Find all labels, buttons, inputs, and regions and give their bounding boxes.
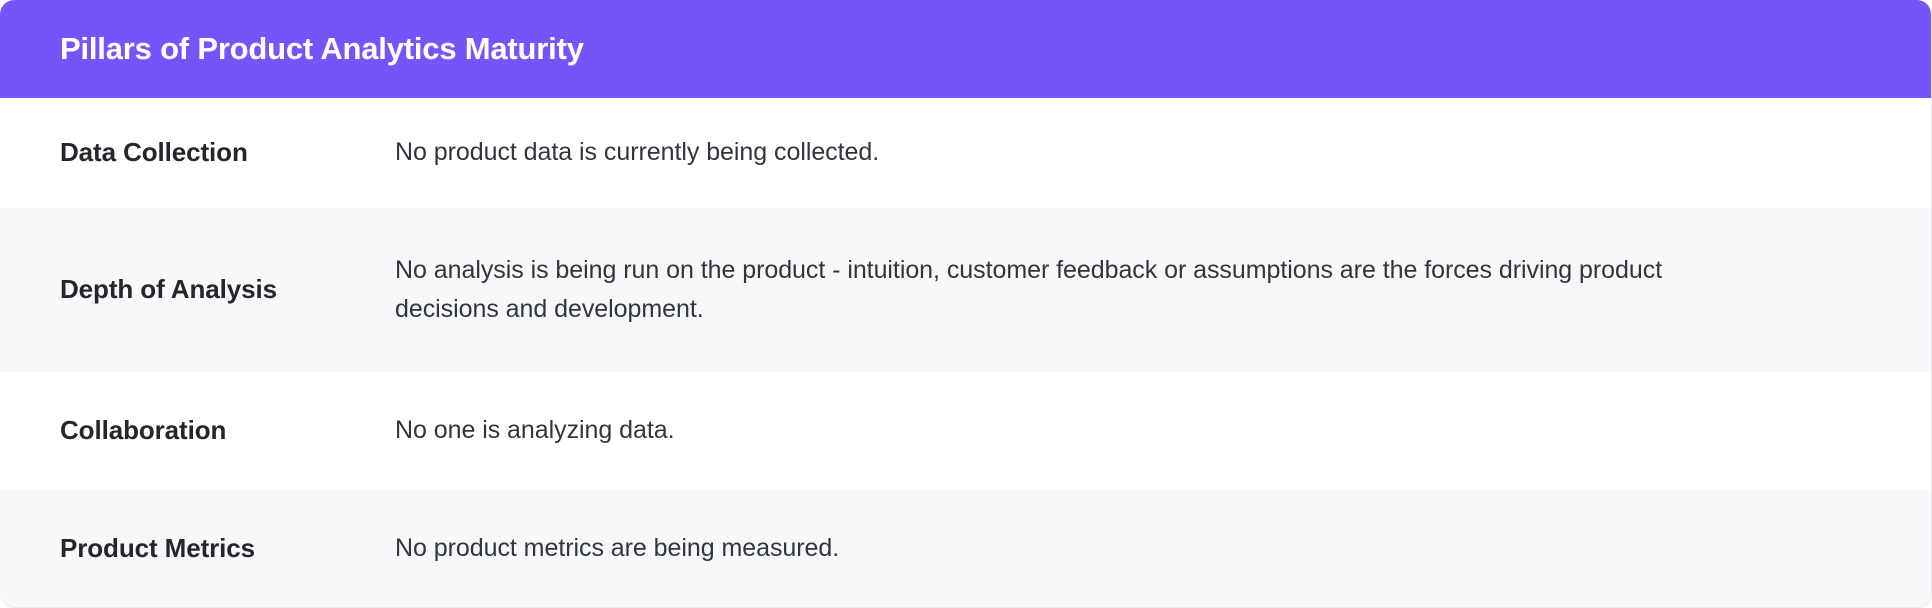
pillar-description: No product data is currently being colle… [395, 133, 1715, 173]
pillar-description: No analysis is being run on the product … [395, 251, 1715, 330]
pillar-description: No product metrics are being measured. [395, 529, 1715, 569]
card-header: Pillars of Product Analytics Maturity [0, 0, 1931, 98]
table-row: Data Collection No product data is curre… [0, 98, 1931, 208]
pillars-card: Pillars of Product Analytics Maturity Da… [0, 0, 1932, 608]
pillar-label: Data Collection [60, 136, 395, 170]
pillar-label: Depth of Analysis [60, 273, 395, 307]
table-row: Product Metrics No product metrics are b… [0, 490, 1931, 607]
pillar-description: No one is analyzing data. [395, 411, 1715, 451]
page-title: Pillars of Product Analytics Maturity [60, 30, 584, 67]
pillar-label: Collaboration [60, 414, 395, 448]
pillar-label: Product Metrics [60, 532, 395, 566]
table-row: Collaboration No one is analyzing data. [0, 372, 1931, 490]
table-row: Depth of Analysis No analysis is being r… [0, 208, 1931, 372]
